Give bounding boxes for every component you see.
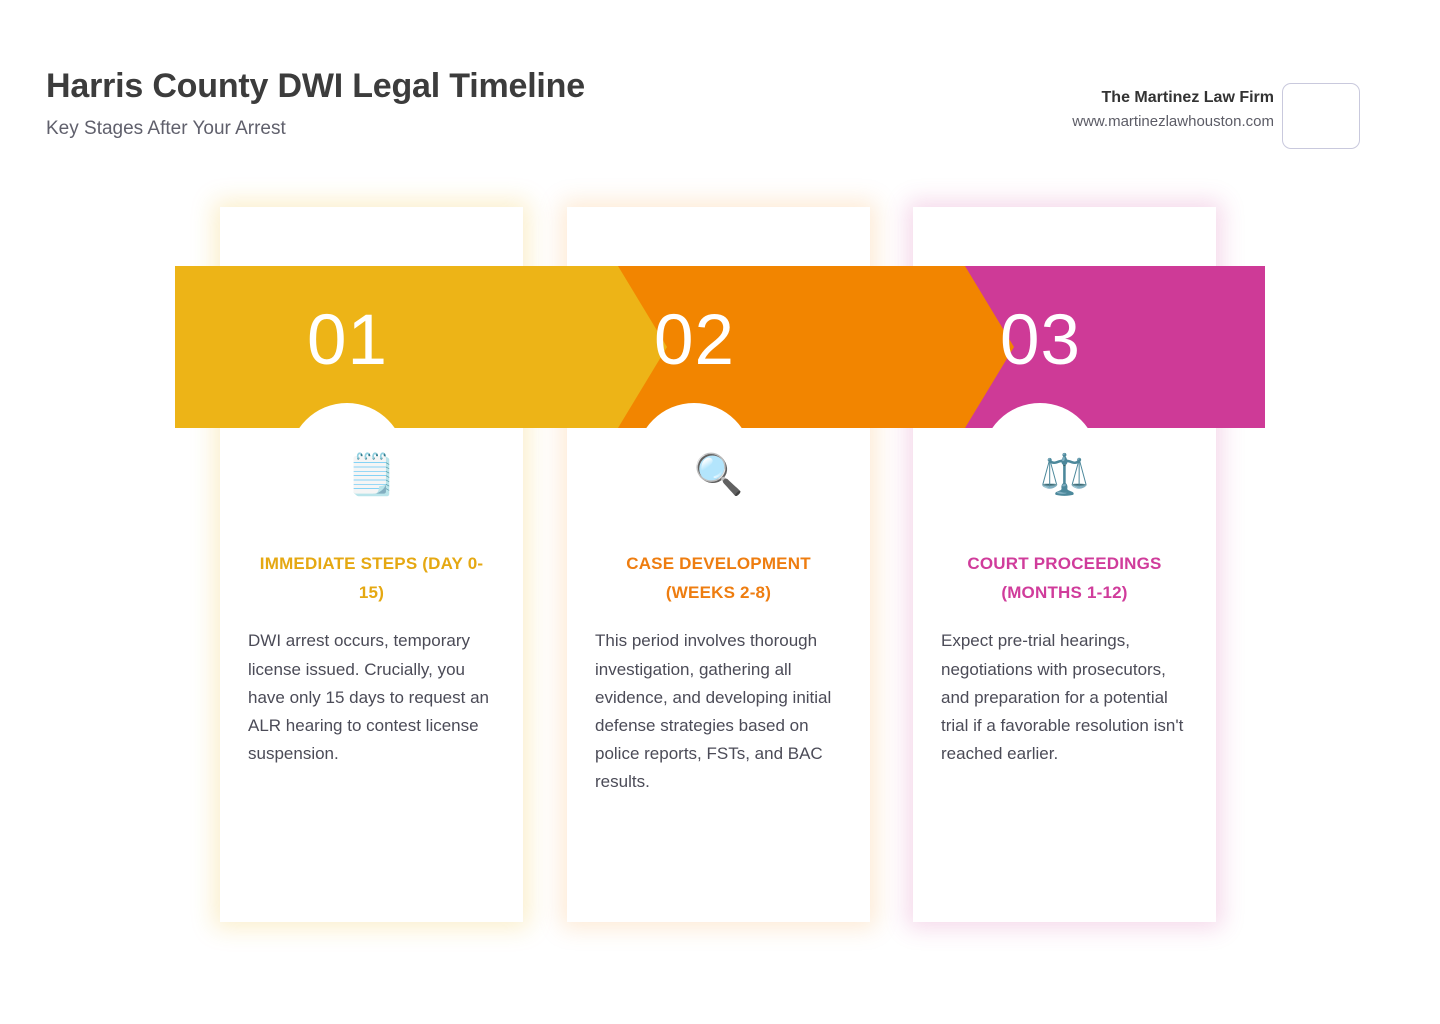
stage-card-list: 🗒️ IMMEDIATE STEPS (DAY 0-15) DWI arrest… bbox=[220, 207, 1220, 922]
spiral-notepad-icon: 🗒️ bbox=[248, 455, 495, 501]
header: Harris County DWI Legal Timeline Key Sta… bbox=[46, 66, 1400, 166]
stage-card-3: ⚖️ COURT PROCEEDINGS (MONTHS 1-12) Expec… bbox=[913, 207, 1216, 922]
firm-name: The Martinez Law Firm bbox=[1072, 88, 1274, 109]
brand-block: The Martinez Law Firm www.martinezlawhou… bbox=[1072, 88, 1274, 133]
firm-website: www.martinezlawhouston.com bbox=[1072, 111, 1274, 134]
stage-heading-3: COURT PROCEEDINGS (MONTHS 1-12) bbox=[941, 549, 1188, 607]
stage-body-3: Expect pre-trial hearings, negotiations … bbox=[941, 627, 1188, 767]
stage-body-2: This period involves thorough investigat… bbox=[595, 627, 842, 795]
stage-body-1: DWI arrest occurs, temporary license iss… bbox=[248, 627, 495, 767]
magnifying-glass-icon: 🔍 bbox=[595, 455, 842, 501]
stage-heading-2: CASE DEVELOPMENT (WEEKS 2-8) bbox=[595, 549, 842, 607]
logo-placeholder bbox=[1282, 83, 1360, 149]
stage-card-2: 🔍 CASE DEVELOPMENT (WEEKS 2-8) This peri… bbox=[567, 207, 870, 922]
infographic-page: Harris County DWI Legal Timeline Key Sta… bbox=[0, 0, 1440, 1024]
stage-card-1: 🗒️ IMMEDIATE STEPS (DAY 0-15) DWI arrest… bbox=[220, 207, 523, 922]
balance-scales-icon: ⚖️ bbox=[941, 455, 1188, 501]
stage-heading-1: IMMEDIATE STEPS (DAY 0-15) bbox=[248, 549, 495, 607]
